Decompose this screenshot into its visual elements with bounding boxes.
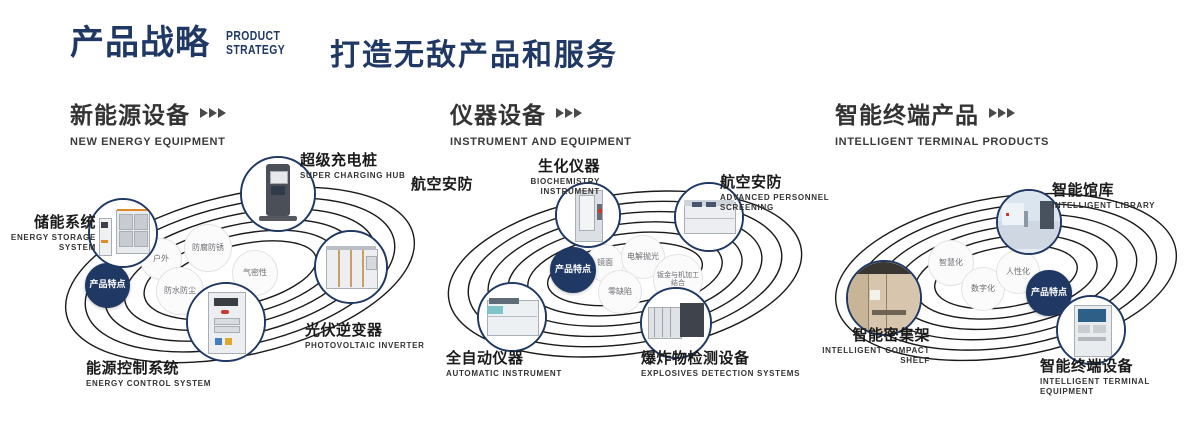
chevron-right-icon bbox=[556, 108, 582, 118]
section-header-instrument: 仪器设备 INSTRUMENT AND EQUIPMENT bbox=[450, 96, 631, 148]
label-en: ENERGY CONTROL SYSTEM bbox=[86, 379, 246, 389]
section-title-cn: 新能源设备 bbox=[70, 96, 190, 130]
label-energy-control-system: 能源控制系统 ENERGY CONTROL SYSTEM bbox=[86, 360, 246, 389]
label-en: INTELLIGENT TERMINAL EQUIPMENT bbox=[1040, 377, 1200, 397]
product-strategy-infographic: 产品战略 PRODUCTSTRATEGY 打造无敌产品和服务 新能源设备 NEW… bbox=[0, 0, 1200, 422]
label-en: ENERGY STORAGE SYSTEM bbox=[0, 233, 96, 253]
label-cn: 超级充电桩 bbox=[300, 152, 430, 169]
label-en: INTELLIGENT LIBRARY bbox=[1052, 201, 1198, 211]
label-cn: 智能终端设备 bbox=[1040, 358, 1200, 375]
section-header-new-energy: 新能源设备 NEW ENERGY EQUIPMENT bbox=[70, 96, 226, 148]
node-photovoltaic-inverter[interactable] bbox=[314, 230, 388, 304]
label-cn: 爆炸物检测设备 bbox=[641, 350, 801, 367]
section-title-cn: 仪器设备 bbox=[450, 96, 546, 130]
label-photovoltaic-inverter: 光伏逆变器 PHOTOVOLTAIC INVERTER bbox=[305, 322, 435, 351]
chevron-right-icon bbox=[200, 108, 226, 118]
section-header-intelligent: 智能终端产品 INTELLIGENT TERMINAL PRODUCTS bbox=[835, 96, 1049, 148]
label-cn: 储能系统 bbox=[0, 214, 96, 231]
label-en: EXPLOSIVES DETECTION SYSTEMS bbox=[641, 369, 801, 379]
page-header: 产品战略 PRODUCTSTRATEGY bbox=[70, 26, 300, 60]
feature-bubble: 防腐防锈 bbox=[184, 224, 232, 272]
page-title-english-line2: STRATEGY bbox=[226, 42, 285, 57]
section-title-cn: 智能终端产品 bbox=[835, 96, 979, 130]
label-intelligent-compact-shelf: 智能密集架 INTELLIGENT COMPACT SHELF bbox=[810, 327, 930, 366]
page-title-english: PRODUCTSTRATEGY bbox=[226, 29, 285, 57]
node-intelligent-compact-shelf[interactable] bbox=[846, 260, 922, 336]
feature-bubble: 零缺陷 bbox=[598, 270, 642, 314]
node-automatic-instrument[interactable] bbox=[477, 282, 547, 352]
node-energy-control-system[interactable] bbox=[186, 282, 266, 362]
label-en: INTELLIGENT COMPACT SHELF bbox=[810, 346, 930, 366]
label-cn: 全自动仪器 bbox=[446, 350, 596, 367]
label-cn: 生化仪器 bbox=[470, 158, 600, 175]
label-biochemistry-instrument: 生化仪器 BIOCHEMISTRY INSTRUMENT bbox=[470, 158, 600, 197]
section-title-en: INSTRUMENT AND EQUIPMENT bbox=[450, 136, 631, 148]
section-title-en: NEW ENERGY EQUIPMENT bbox=[70, 136, 226, 148]
label-en: PHOTOVOLTAIC INVERTER bbox=[305, 341, 435, 351]
page-slogan: 打造无敌产品和服务 bbox=[330, 30, 618, 74]
node-intelligent-terminal-equipment[interactable] bbox=[1056, 295, 1126, 365]
node-energy-storage-system[interactable] bbox=[88, 198, 158, 268]
label-automatic-instrument: 全自动仪器 AUTOMATIC INSTRUMENT bbox=[446, 350, 596, 379]
label-en: AUTOMATIC INSTRUMENT bbox=[446, 369, 596, 379]
label-cn: 智能密集架 bbox=[810, 327, 930, 344]
label-energy-storage-system: 储能系统 ENERGY STORAGE SYSTEM bbox=[0, 214, 96, 253]
label-intelligent-terminal-equipment: 智能终端设备 INTELLIGENT TERMINAL EQUIPMENT bbox=[1040, 358, 1200, 397]
label-intelligent-library: 智能馆库 INTELLIGENT LIBRARY bbox=[1052, 182, 1198, 211]
label-en: BIOCHEMISTRY INSTRUMENT bbox=[470, 177, 600, 197]
core-bubble: 产品特点 bbox=[85, 263, 130, 308]
label-explosives-detection-systems: 爆炸物检测设备 EXPLOSIVES DETECTION SYSTEMS bbox=[641, 350, 801, 379]
label-cn: 智能馆库 bbox=[1052, 182, 1198, 199]
label-cn: 光伏逆变器 bbox=[305, 322, 435, 339]
page-title: 产品战略 bbox=[70, 26, 210, 60]
section-title-en: INTELLIGENT TERMINAL PRODUCTS bbox=[835, 136, 1049, 148]
chevron-right-icon bbox=[989, 108, 1015, 118]
label-cn: 能源控制系统 bbox=[86, 360, 246, 377]
page-title-english-line1: PRODUCT bbox=[226, 28, 280, 43]
core-bubble: 产品特点 bbox=[550, 247, 596, 293]
